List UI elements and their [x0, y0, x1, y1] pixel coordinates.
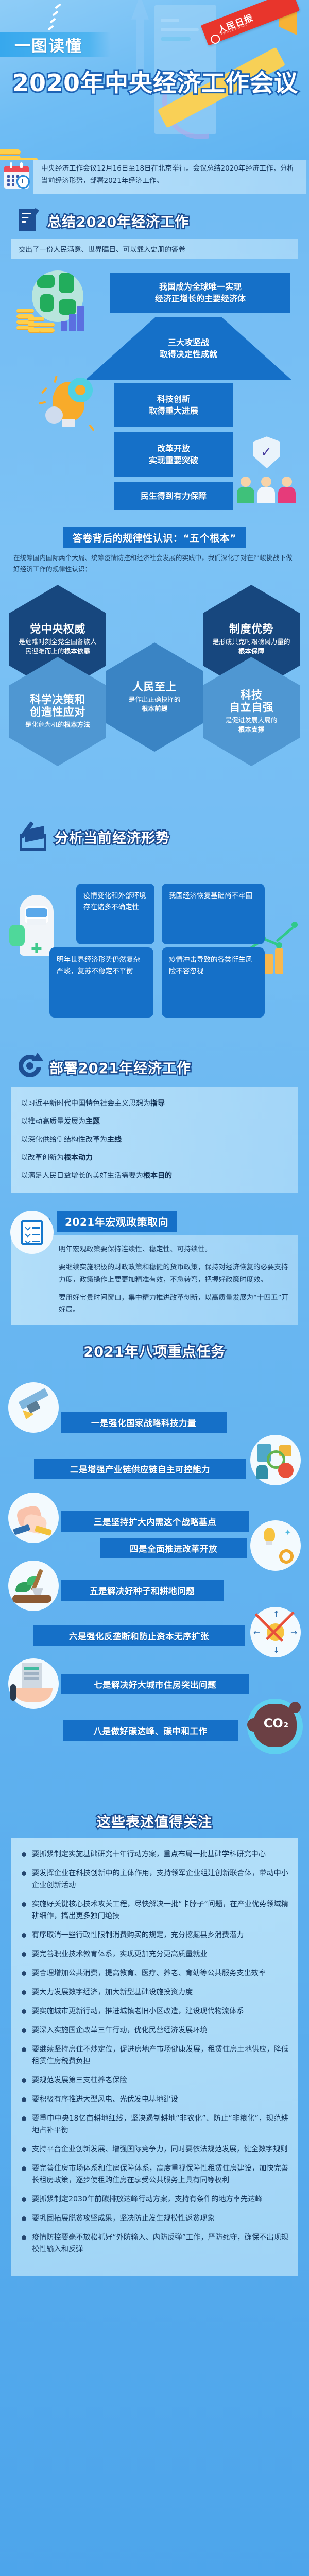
co2-icon: CO₂: [247, 1699, 303, 1754]
task-bar-2: 二是增强产业链供应链自主可控能力: [34, 1459, 246, 1479]
macro-para: 要继续实施积极的财政政策和稳健的货币政策，保持对经济恢复的必要支持力度，政策操作…: [59, 1262, 288, 1285]
hex-desc: 是作出正确抉择的根本前提: [129, 695, 181, 714]
list-item: 要重申中央18亿亩耕地红线，坚决遏制耕地“非农化”、防止“非粮化”，规范耕地占补…: [21, 2113, 288, 2137]
peoples-daily-badge: 人民日报 PEOPLE'S DAILY: [201, 0, 309, 53]
situation-card-2: 我国经济恢复基础尚不牢固: [162, 884, 265, 944]
achievement-box-5: 民生得到有力保障: [114, 482, 233, 510]
achievement-box-2: 三大攻坚战 取得决定性成就: [85, 317, 291, 380]
section-2-title: 分析当前经济形势: [55, 827, 170, 847]
calendar-clock-icon: [3, 162, 30, 189]
list-item: 以推动高质量发展为主题: [21, 1113, 288, 1131]
situation-card-1: 疫情变化和外部环境存在诸多不确定性: [76, 884, 154, 944]
anti-monopoly-icon: ↑ ↓ ← →: [250, 1607, 301, 1657]
list-item: 要合理增加公共消费，提高教育、医疗、养老、育幼等公共服务支出效率: [21, 1968, 288, 1979]
macro-para: 明年宏观政策要保持连续性、稳定性、可持续性。: [59, 1244, 288, 1256]
coin-stack-icon: [0, 126, 54, 160]
task-bar-5: 五是解决好种子和耕地问题: [61, 1580, 224, 1601]
list-item: 要抓紧制定实施基础研究十年行动方案，重点布局一批基础学科研究中心: [21, 1849, 288, 1860]
eight-tasks-group: 一是强化国家战略科技力量 二是增强产业链供应链自主可控能力 三是坚持扩大内需这个…: [0, 1380, 309, 1808]
hex-desc: 是危难时刻全党全国各族人民迎难而上的根本依靠: [16, 637, 99, 656]
section-2-group: 分析当前经济形势 ✚ 疫情变化和外部环境存在诸多不确定性 我国经济恢复基础尚不牢…: [0, 817, 309, 1048]
lightbulb-gears-icon: [41, 375, 108, 452]
lightbulb-gear-icon: ✦: [250, 1520, 301, 1571]
task-bar-3: 三是坚持扩大内需这个战略基点: [61, 1511, 249, 1532]
section-2-header: 分析当前经济形势: [0, 817, 309, 856]
list-item: 要完善住房市场体系和住房保障体系，高度重视保障性租赁住房建设，加快完善长租房政策…: [21, 2163, 288, 2187]
list-item: 以满足人民日益增长的美好生活需要为根本目的: [21, 1167, 288, 1185]
satellite-icon: [8, 1382, 59, 1433]
co2-label: CO₂: [254, 1716, 298, 1731]
coins-icon: [16, 303, 57, 335]
list-item: 要实施城市更新行动，推进城镇老旧小区改造，建设现代物流体系: [21, 2006, 288, 2018]
housing-hand-icon: [8, 1658, 59, 1709]
list-item: 有序取消一些行政性限制消费购买的规定，充分挖掘县乡消费潜力: [21, 1929, 288, 1941]
situation-card-3: 明年世界经济形势仍然复杂严峻，复苏不稳定不平衡: [49, 947, 153, 1018]
section-1-subtitle: 交出了一份人民满意、世界瞩目、可以载入史册的答卷: [11, 239, 298, 259]
macro-policy-title: 2021年宏观政策取向: [57, 1211, 177, 1232]
circular-arrow-icon: [18, 1054, 44, 1080]
list-item: 要深入实施国企改革三年行动，优化民营经济发展环境: [21, 2025, 288, 2037]
achievement-box-4: 改革开放 实现重要突破: [114, 432, 233, 477]
hex-title: 人民至上: [132, 681, 177, 693]
task-bar-6: 六是强化反垄断和防止资本无序扩张: [33, 1625, 245, 1646]
section-1-header: 总结2020年经济工作: [0, 194, 309, 236]
hex-title: 制度优势: [229, 623, 273, 636]
achievement-box-1: 我国成为全球唯一实现 经济正增长的主要经济体: [110, 273, 290, 313]
achievements-group: 我国成为全球唯一实现 经济正增长的主要经济体 三大攻坚战 取得决定性成就 科技创…: [0, 266, 309, 545]
section-1-title: 总结2020年经济工作: [47, 211, 189, 231]
macro-para: 要用好宝贵时间窗口，集中精力推进改革创新，以高质量发展为“十四五”开好局。: [59, 1292, 288, 1316]
section-5-title: 这些表述值得关注: [97, 1815, 212, 1831]
lead-paragraph: 中央经济工作会议12月16日至18日在北京举行。会议总结2020年经济工作，分析…: [33, 156, 306, 194]
task-bar-1: 一是强化国家战略科技力量: [61, 1412, 227, 1433]
supply-chain-icon: [250, 1435, 301, 1485]
task-bar-7: 七是解决好大城市住房突出问题: [61, 1674, 249, 1694]
list-item: 支持平台企业创新发展、增强国际竞争力，同时要依法规范发展，健全数字规则: [21, 2144, 288, 2156]
task-bar-4: 四是全面推进改革开放: [100, 1538, 247, 1558]
hero-banner: 一图读懂 2020年中央经济工作会议 人民日报 PEOPLE'S DAILY: [0, 0, 309, 160]
lead-row: 中央经济工作会议12月16日至18日在北京举行。会议总结2020年经济工作，分析…: [3, 156, 306, 194]
list-item: 要发挥企业在科技创新中的主体作用，支持领军企业组建创新联合体，带动中小企业创新活…: [21, 1868, 288, 1891]
section-3-title: 部署2021年经济工作: [49, 1057, 191, 1077]
list-item: 要继续坚持房住不炒定位，促进房地产市场健康发展，租赁住房土地供应，降低租赁住房税…: [21, 2044, 288, 2067]
hands-clapping-icon: [8, 1493, 59, 1543]
list-item: 疫情防控要毫不放松抓好“外防输入、内防反弹”工作，严防死守，确保不出现规模性输入…: [21, 2232, 288, 2256]
hex-desc: 是形成共克时艰磅礴力量的根本保障: [210, 637, 293, 656]
situation-card-4: 疫情冲击导致的各类衍生风险不容忽视: [162, 947, 265, 1018]
macro-policy-block: 2021年宏观政策取向 明年宏观政策要保持连续性、稳定性、可持续性。 要继续实施…: [0, 1211, 309, 1325]
hex-title: 科学决策和 创造性应对: [30, 693, 85, 719]
task-bar-8: 八是做好碳达峰、碳中和工作: [63, 1720, 238, 1741]
list-item: 要大力发展数字经济，加大新型基础设施投资力度: [21, 1987, 288, 1998]
page-title: 2020年中央经济工作会议: [12, 64, 298, 98]
shield-people-icon: [234, 436, 301, 503]
seedling-shovel-icon: [8, 1561, 59, 1611]
section-4-header: 2021年八项重点任务: [0, 1325, 309, 1368]
achievement-box-3: 科技创新 取得重大进展: [114, 383, 233, 427]
guiding-principles-list: 以习近平新时代中国特色社会主义思想为指导 以推动高质量发展为主题 以深化供给侧结…: [11, 1087, 298, 1193]
watch-list: 要抓紧制定实施基础研究十年行动方案，重点布局一批基础学科研究中心 要发挥企业在科…: [11, 1838, 298, 2276]
five-roots-hexagons: 党中央权威 是危难时刻全党全国各族人民迎难而上的根本依靠 制度优势 是形成共克时…: [0, 580, 309, 817]
hex-desc: 是促进发展大局的根本支撑: [226, 716, 278, 735]
document-pen-icon: [18, 208, 42, 233]
hex-title: 科技 自立自强: [229, 689, 273, 715]
read-in-one-chart-tag: 一图读懂: [0, 32, 111, 57]
section-5-header: 这些表述值得关注: [0, 1808, 309, 1838]
hex-people-first: 人民至上 是作出正确抉择的根本前提: [106, 642, 203, 752]
list-item: 以深化供给侧结构性改革为主线: [21, 1131, 288, 1149]
list-item: 实施好关键核心技术攻关工程，尽快解决一批“卡脖子”问题，在产业优势领域精耕细作，…: [21, 1899, 288, 1922]
section-4-title: 2021年八项重点任务: [83, 1344, 225, 1360]
hex-desc: 是化危为机的根本方法: [25, 720, 90, 730]
list-item: 要规范发展第三支柱养老保险: [21, 2075, 288, 2087]
tag-label: 一图读懂: [14, 33, 82, 56]
microscope-icon: [18, 821, 49, 853]
list-item: 要抓紧制定2030年前碳排放达峰行动方案，支持有条件的地方率先达峰: [21, 2194, 288, 2206]
list-item: 以改革创新为根本动力: [21, 1149, 288, 1167]
checklist-icon: [10, 1211, 54, 1254]
list-item: 以习近平新时代中国特色社会主义思想为指导: [21, 1095, 288, 1113]
section-3-header: 部署2021年经济工作: [0, 1048, 309, 1083]
list-item: 要积极有序推进大型风电、光伏发电基地建设: [21, 2094, 288, 2106]
hex-title: 党中央权威: [30, 623, 85, 636]
roots-note: 在统筹国内国际两个大局、统筹疫情防控和经济社会发展的实践中，我们深化了对在严峻挑…: [13, 552, 296, 574]
list-item: 要巩固拓展脱贫攻坚成果，坚决防止发生规模性返贫现象: [21, 2213, 288, 2225]
list-item: 要完善职业技术教育体系，实现更加充分更高质量就业: [21, 1948, 288, 1960]
macro-policy-body: 明年宏观政策要保持连续性、稳定性、可持续性。 要继续实施积极的财政政策和稳健的货…: [11, 1235, 298, 1325]
